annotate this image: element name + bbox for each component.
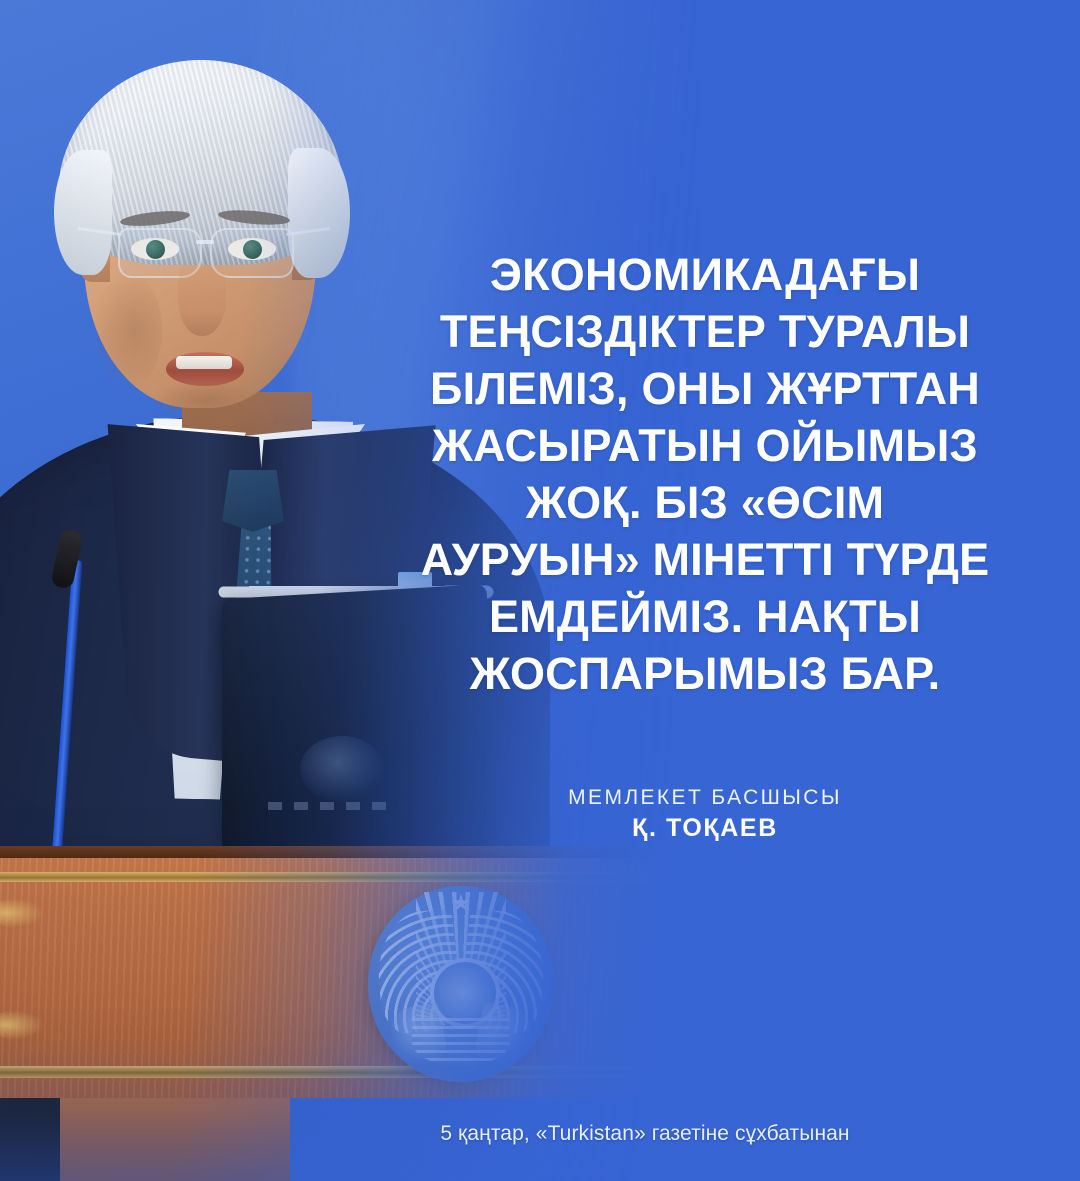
source-caption-text: 5 қаңтар, «Turkistan» газетіне сұхбатына… xyxy=(230,1122,849,1146)
photo-bottom-fade xyxy=(0,1040,700,1181)
quote-line: ТЕҢСІЗДІКТЕР ТУРАЛЫ xyxy=(360,303,1050,360)
quote-line: АУРУЫН» МІНЕТТІ ТҮРДЕ xyxy=(360,531,1050,588)
quote-card: ЭКОНОМИКАДАҒЫ ТЕҢСІЗДІКТЕР ТУРАЛЫ БІЛЕМІ… xyxy=(0,0,1080,1181)
source-caption: 5 қаңтар, «Turkistan» газетіне сұхбатына… xyxy=(0,1122,1080,1146)
attribution: МЕМЛЕКЕТ БАСШЫСЫ Қ. ТОҚАЕВ xyxy=(360,784,1050,844)
attribution-name: Қ. ТОҚАЕВ xyxy=(360,812,1050,844)
quote-line: ЭКОНОМИКАДАҒЫ xyxy=(360,246,1050,303)
quote-line: ЖОҚ. БІЗ «ӨСІМ xyxy=(360,474,1050,531)
quote-line: БІЛЕМІЗ, ОНЫ ЖҰРТТАН xyxy=(360,360,1050,417)
quote-text: ЭКОНОМИКАДАҒЫ ТЕҢСІЗДІКТЕР ТУРАЛЫ БІЛЕМІ… xyxy=(360,246,1050,702)
quote-line: ЖАСЫРАТЫН ОЙЫМЫЗ xyxy=(360,417,1050,474)
attribution-role: МЕМЛЕКЕТ БАСШЫСЫ xyxy=(360,784,1050,811)
quote-line: ЖОСПАРЫМЫЗ БАР. xyxy=(360,645,1050,702)
quote-line: ЕМДЕЙМІЗ. НАҚТЫ xyxy=(360,588,1050,645)
